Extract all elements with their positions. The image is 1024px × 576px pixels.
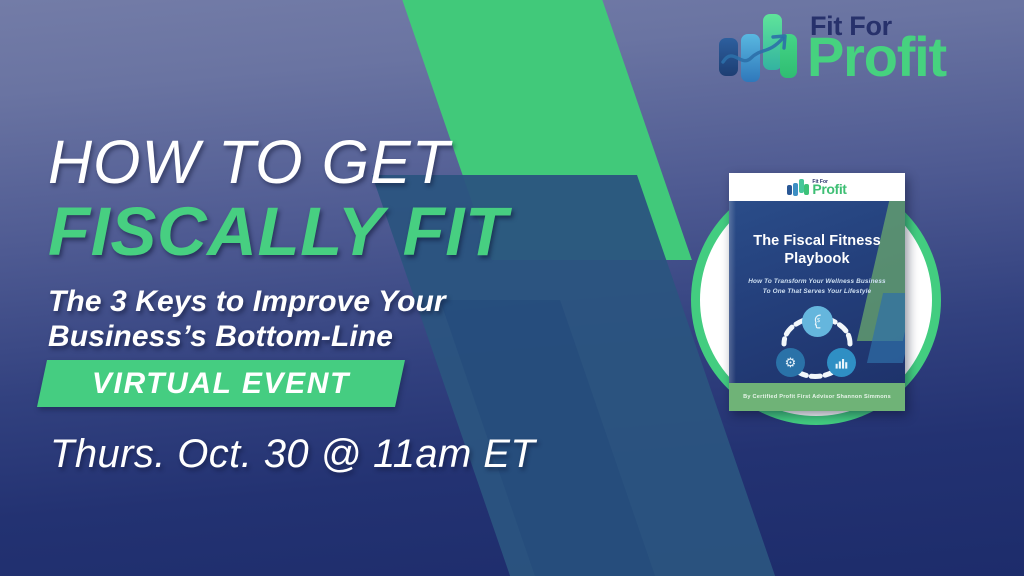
- book-byline: By Certified Profit First Advisor Shanno…: [743, 394, 891, 400]
- headline-subtitle: The 3 Keys to Improve Your Business’s Bo…: [48, 285, 568, 353]
- book-bar-chart-icon: [787, 179, 809, 196]
- event-datetime: Thurs. Oct. 30 @ 11am ET: [50, 432, 535, 477]
- book-cover: Fit For Profit The Fiscal Fitness Playbo…: [729, 173, 905, 411]
- book-showcase: Fit For Profit The Fiscal Fitness Playbo…: [691, 175, 941, 425]
- book-byline-band: By Certified Profit First Advisor Shanno…: [729, 383, 905, 411]
- headline-line-2: FISCALLY FIT: [48, 197, 568, 267]
- book-logo-bar-4: [804, 184, 809, 195]
- bar-chart-glyph: [834, 356, 850, 370]
- virtual-event-badge: VIRTUAL EVENT: [37, 360, 405, 407]
- bar-chart-growth-arrow-icon: [719, 14, 797, 82]
- book-tagline-line-1: How To Transform Your Wellness Business: [745, 277, 889, 287]
- book-brand-logo-text: Fit For Profit: [812, 180, 846, 195]
- systems-gears-icon: ⚙: [776, 348, 805, 377]
- book-spine: [729, 173, 736, 411]
- virtual-event-badge-label: VIRTUAL EVENT: [92, 367, 350, 401]
- growth-arrow-icon: [721, 28, 797, 74]
- brand-logo: Fit For Profit: [719, 14, 946, 82]
- book-logo-bar-2: [793, 183, 798, 196]
- book-header-band: Fit For Profit: [729, 173, 905, 201]
- book-brand-logo: Fit For Profit: [787, 179, 846, 196]
- head-dollar-glyph: $: [809, 313, 826, 330]
- brand-logo-text: Fit For Profit: [807, 14, 946, 82]
- book-tagline-line-2: To One That Serves Your Lifestyle: [745, 287, 889, 297]
- brand-logo-profit: Profit: [807, 32, 946, 82]
- book-tagline: How To Transform Your Wellness Business …: [745, 277, 889, 296]
- growth-chart-icon: [827, 348, 856, 377]
- mindset-head-dollar-icon: $: [802, 306, 833, 337]
- headline-block: HOW TO GET FISCALLY FIT The 3 Keys to Im…: [48, 132, 568, 354]
- gears-glyph: ⚙: [785, 356, 797, 369]
- book-cycle-diagram: $ ⚙: [774, 306, 860, 382]
- headline-line-1: HOW TO GET: [48, 132, 568, 193]
- book-logo-bar-1: [787, 185, 792, 195]
- book-logo-profit: Profit: [812, 184, 846, 196]
- promo-banner: Fit For Profit HOW TO GET FISCALLY FIT T…: [0, 0, 1024, 576]
- svg-text:$: $: [817, 318, 821, 324]
- book-title: The Fiscal Fitness Playbook: [739, 233, 895, 268]
